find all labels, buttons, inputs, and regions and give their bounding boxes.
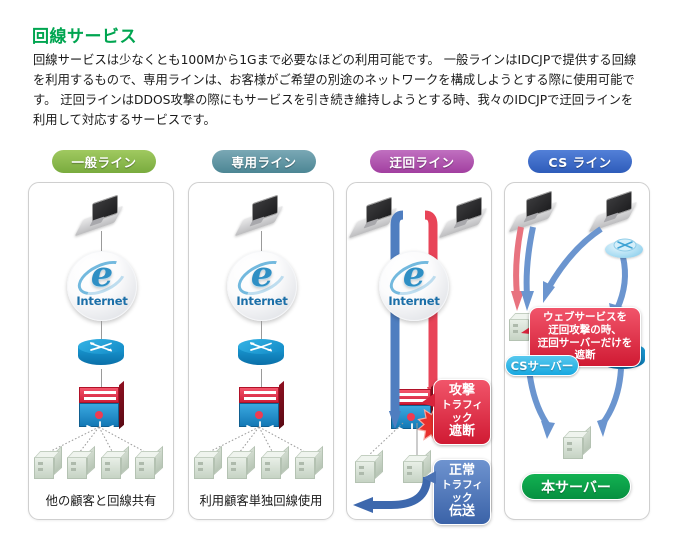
storage-disc-icon bbox=[605, 233, 643, 259]
callout-attack-traffic-block: 攻撃 トラフィック 遮断 bbox=[433, 379, 491, 445]
server-icon bbox=[261, 451, 291, 479]
connector-line bbox=[101, 321, 102, 341]
callout-normal-traffic-transfer: 正常 トラフィック 伝送 bbox=[433, 459, 491, 525]
connector-line bbox=[261, 369, 262, 389]
diagram-panel-dedicated-line: e Internet bbox=[188, 182, 334, 520]
internet-label: Internet bbox=[67, 294, 137, 308]
page-title: 回線サービス bbox=[32, 22, 137, 47]
connector-line bbox=[261, 321, 262, 341]
panel-caption: 他の顧客と回線共有 bbox=[29, 491, 173, 509]
laptop-icon bbox=[239, 199, 283, 229]
callout-tail bbox=[421, 391, 437, 413]
diagram-panel-general-line: e Internet bbox=[28, 182, 174, 520]
column-pill-cs-line[interactable]: CS ライン bbox=[528, 150, 632, 173]
diagram-panel-cs-line: ウェブサービスを 迂回攻撃の時、 迂回サーバーだけを遮断 CSサーバー 本サーバ… bbox=[504, 182, 650, 520]
callout-tail bbox=[423, 469, 437, 489]
server-icon bbox=[67, 451, 97, 479]
column-pill-dedicated-line[interactable]: 専用ライン bbox=[212, 150, 316, 173]
column-pill-bypass-line[interactable]: 迂回ライン bbox=[370, 150, 474, 173]
router-icon bbox=[78, 339, 124, 369]
panel-caption: 利用顧客単独回線使用 bbox=[189, 491, 333, 509]
connector-line bbox=[261, 231, 262, 253]
network-switch-icon bbox=[239, 387, 283, 431]
server-icon bbox=[227, 451, 257, 479]
line-service-page: 回線サービス 回線サービスは少なくとも100Mから1Gまで必要なほどの利用可能で… bbox=[0, 0, 680, 555]
internet-label: Internet bbox=[227, 294, 297, 308]
router-icon bbox=[238, 339, 284, 369]
internet-globe-icon: e Internet bbox=[227, 251, 297, 321]
connector-line bbox=[101, 231, 102, 253]
server-icon bbox=[194, 451, 224, 479]
server-icon bbox=[295, 451, 325, 479]
network-switch-icon bbox=[79, 387, 123, 431]
laptop-icon bbox=[79, 199, 123, 229]
internet-label: Internet bbox=[379, 294, 449, 308]
tag-cs-server: CSサーバー bbox=[505, 355, 579, 376]
internet-globe-icon: e Internet bbox=[379, 251, 449, 321]
internet-globe-icon: e Internet bbox=[67, 251, 137, 321]
connector-line bbox=[101, 369, 102, 389]
server-icon bbox=[563, 431, 593, 459]
diagram-panel-bypass-line: e Internet bbox=[346, 182, 492, 520]
column-pill-general-line[interactable]: 一般ライン bbox=[52, 150, 156, 173]
tag-main-server: 本サーバー bbox=[521, 473, 631, 500]
server-icon bbox=[34, 451, 64, 479]
server-icon bbox=[101, 451, 131, 479]
server-icon bbox=[135, 451, 165, 479]
intro-paragraph: 回線サービスは少なくとも100Mから1Gまで必要なほどの利用可能です。 一般ライ… bbox=[33, 50, 643, 130]
